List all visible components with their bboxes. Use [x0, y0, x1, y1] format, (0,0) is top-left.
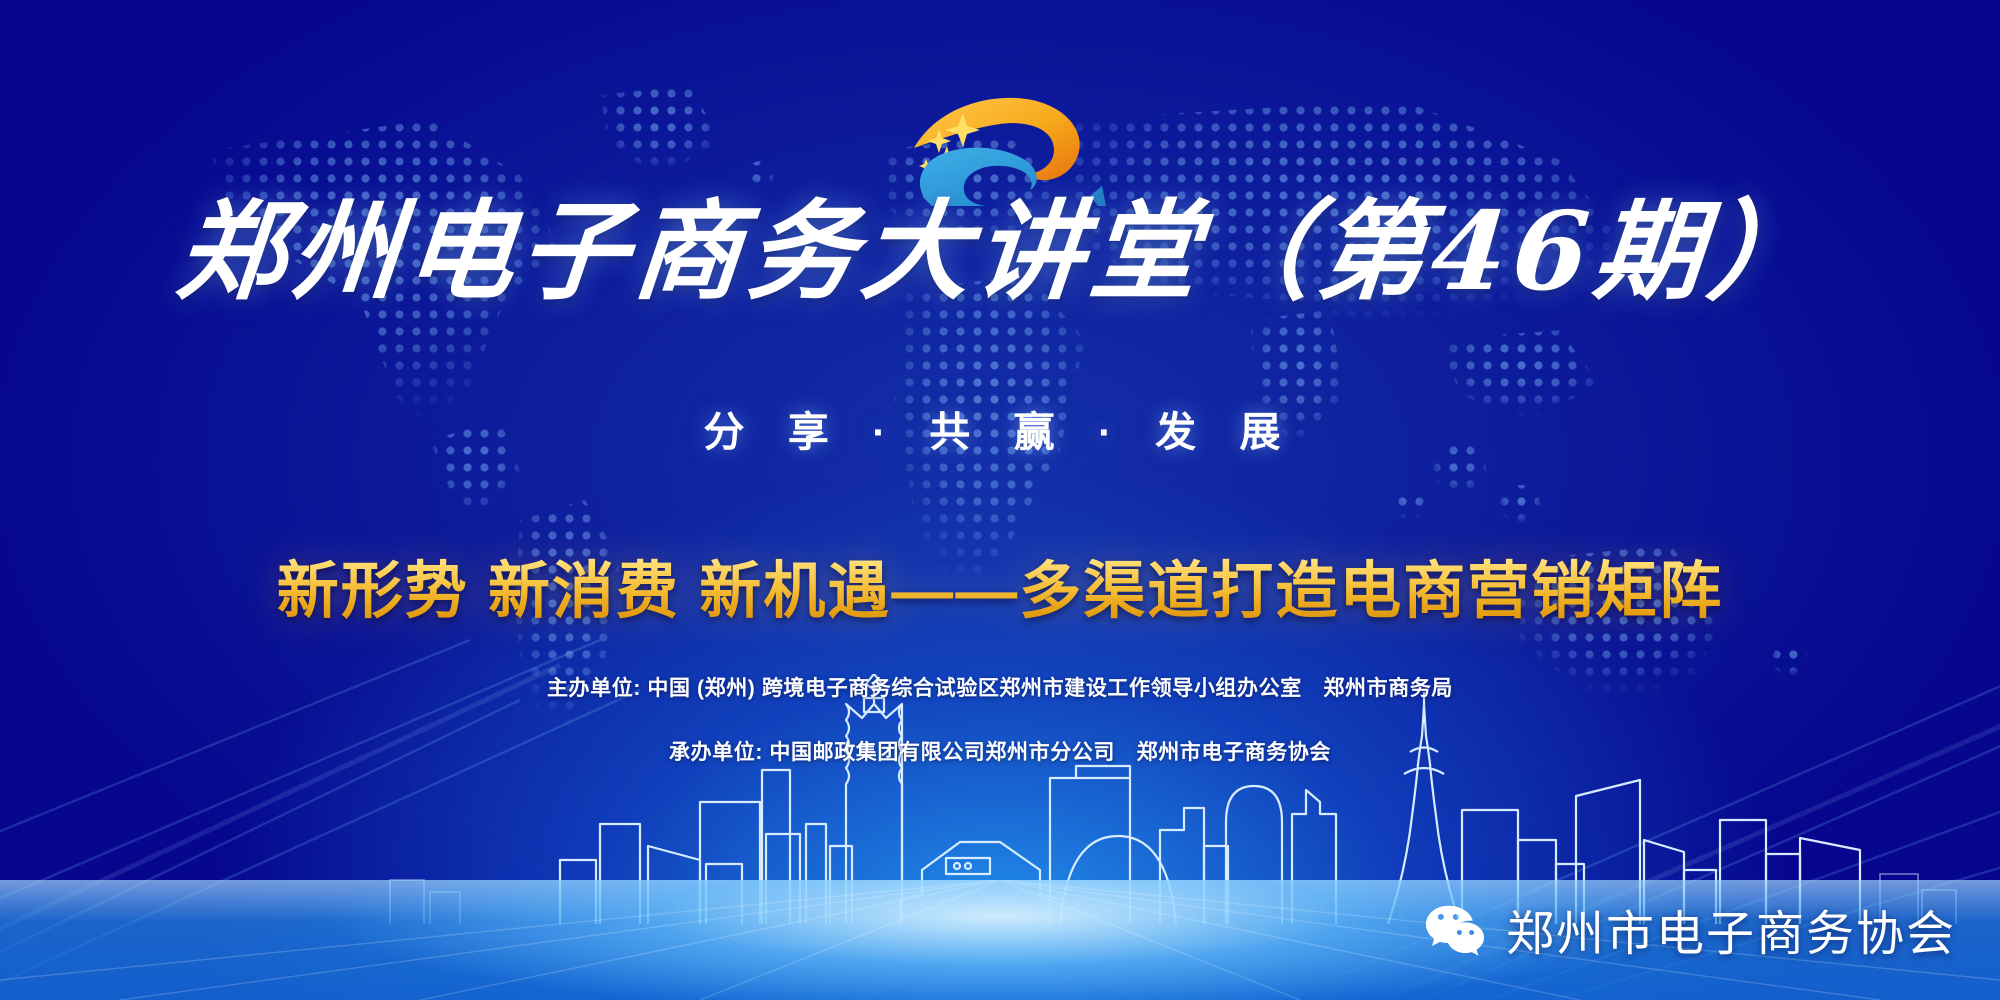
- organizer-block: 主办单位: 中国 (郑州) 跨境电子商务综合试验区郑州市建设工作领导小组办公室 …: [0, 672, 2000, 766]
- host-organization-line: 主办单位: 中国 (郑州) 跨境电子商务综合试验区郑州市建设工作领导小组办公室 …: [0, 672, 2000, 702]
- wechat-account-footer[interactable]: 郑州市电子商务协会: [1424, 894, 1956, 964]
- co-organizer-line: 承办单位: 中国邮政集团有限公司郑州市分公司 郑州市电子商务协会: [0, 736, 2000, 766]
- session-topic: 新形势 新消费 新机遇——多渠道打造电商营销矩阵: [0, 540, 2000, 630]
- tagline: 分 享 · 共 赢 · 发 展: [0, 398, 2000, 458]
- poster-canvas: 郑州电子商务大讲堂（第46期） 分 享 · 共 赢 · 发 展 新形势 新消费 …: [0, 0, 2000, 1000]
- page-title: 郑州电子商务大讲堂（第46期）: [0, 196, 2000, 309]
- wechat-icon: [1424, 898, 1486, 960]
- wechat-account-name: 郑州市电子商务协会: [1506, 894, 1956, 964]
